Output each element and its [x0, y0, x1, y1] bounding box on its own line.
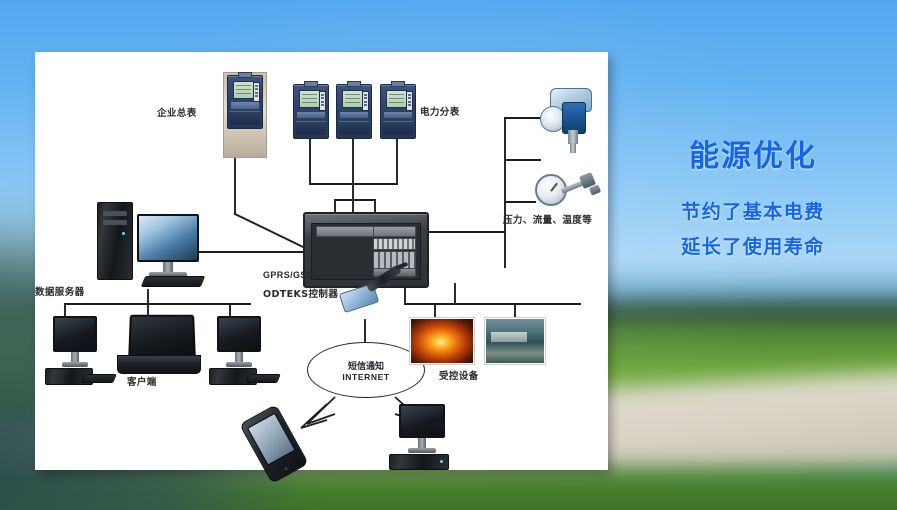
- data-server-label: 数据服务器: [35, 284, 85, 298]
- server-tower-icon: [97, 202, 133, 280]
- desktop-keyboard-icon: [81, 374, 117, 383]
- transmitter-thread-icon: [570, 143, 576, 153]
- transmitter-stem-icon: [568, 130, 578, 144]
- desktop-monitor-icon: [53, 316, 97, 352]
- phone-home-button-icon: [284, 466, 288, 470]
- desktop-tower-icon: [389, 454, 449, 470]
- desktop-monitor-icon: [217, 316, 261, 352]
- gprs-modem-node[interactable]: [325, 268, 411, 318]
- cloud-label-sms: 短信通知: [348, 359, 384, 372]
- controller-terminal-strip: [373, 238, 416, 250]
- server-monitor-icon: [137, 214, 199, 262]
- gprs-label: GPRS/GSM: [263, 270, 315, 280]
- benefit-item-2: 延长了使用寿命: [628, 230, 878, 265]
- antenna-icon: [366, 264, 403, 293]
- enterprise-meter-label: 企业总表: [157, 105, 197, 119]
- desktop-keyboard-icon: [245, 374, 281, 383]
- clients-label: 客户端: [127, 374, 157, 388]
- controller-label-plate: [373, 226, 416, 237]
- internet-cloud-node[interactable]: 短信通知 INTERNET: [307, 342, 425, 398]
- laptop-deck-icon: [117, 355, 201, 374]
- benefit-item-1: 节约了基本电费: [628, 195, 878, 230]
- equipment-furnace-photo[interactable]: [410, 318, 474, 364]
- electric-meter-icon: [227, 75, 263, 129]
- power-submeter-3[interactable]: [380, 84, 414, 137]
- cloud-label-internet: INTERNET: [342, 372, 389, 382]
- pressure-transmitter-node[interactable]: [538, 86, 600, 158]
- headline-text: 能源优化: [628, 140, 878, 173]
- equipment-machinery-photo[interactable]: [485, 318, 545, 364]
- controlled-equipment-label: 受控设备: [439, 368, 479, 382]
- electric-meter-icon: [293, 84, 329, 139]
- server-keyboard-icon: [141, 276, 205, 287]
- client-desktop-left[interactable]: [43, 316, 115, 386]
- electric-meter-icon: [380, 84, 416, 139]
- laptop-lid-icon: [128, 315, 196, 361]
- sensors-label: 压力、流量、温度等: [503, 212, 592, 226]
- network-topology-diagram: 企业总表 电力分表: [35, 52, 608, 470]
- pressure-gauge-node[interactable]: [535, 170, 605, 210]
- desktop-monitor-icon: [399, 404, 445, 438]
- data-server-node[interactable]: [97, 202, 209, 290]
- client-desktop-right[interactable]: [207, 316, 279, 386]
- power-submeter-2[interactable]: [336, 84, 370, 137]
- diagram-panel: 企业总表 电力分表: [35, 52, 608, 470]
- benefits-list: 节约了基本电费 延长了使用寿命: [628, 195, 878, 265]
- power-submeter-1[interactable]: [293, 84, 327, 137]
- probe-connector-icon: [589, 184, 601, 195]
- remote-desktop-pc[interactable]: [385, 404, 459, 470]
- marketing-copy: 能源优化 节约了基本电费 延长了使用寿命: [628, 140, 878, 265]
- electric-meter-icon: [336, 84, 372, 139]
- controller-display-plate: [316, 226, 374, 237]
- power-submeters-label: 电力分表: [420, 104, 460, 118]
- enterprise-meter-node[interactable]: [223, 72, 265, 156]
